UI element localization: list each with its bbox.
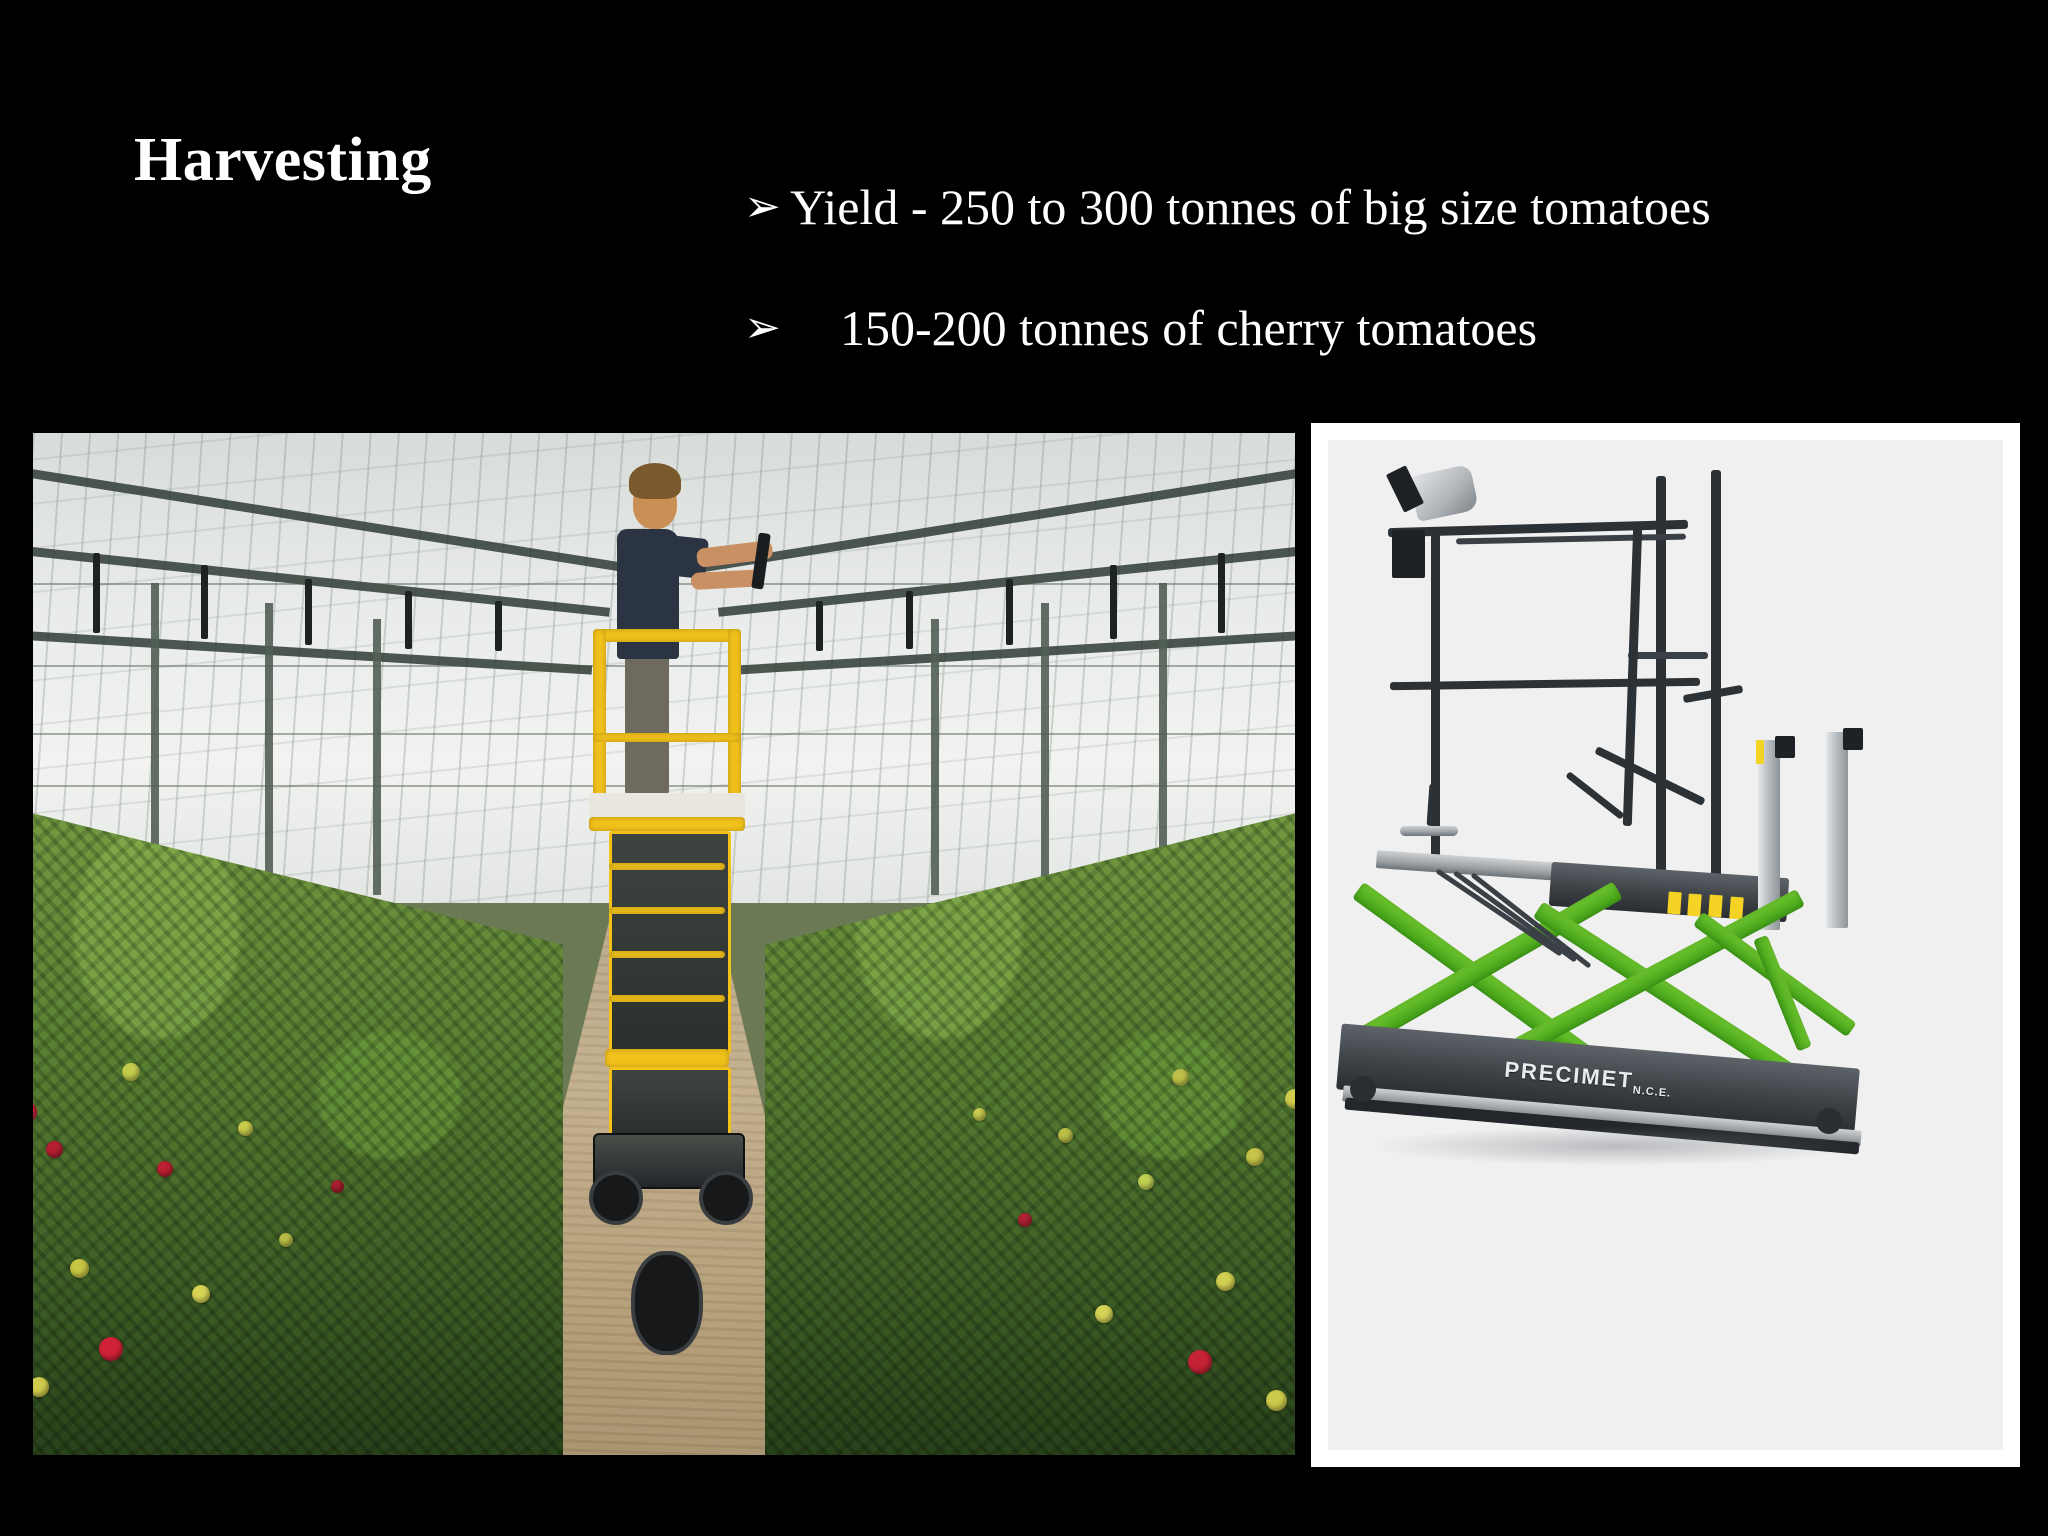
trolley-drive-wheel xyxy=(631,1251,703,1355)
trolley-rail-left xyxy=(593,629,606,805)
trolley-deck xyxy=(589,793,745,817)
greenhouse-post xyxy=(1041,603,1049,903)
base-roller xyxy=(1350,1076,1376,1102)
upright-marker xyxy=(1756,740,1764,764)
trolley-rail-top xyxy=(593,629,741,642)
roof-hanger xyxy=(1110,565,1117,639)
harvesting-trolley xyxy=(579,433,749,1455)
worker-hair xyxy=(629,463,681,499)
roof-hanger xyxy=(405,591,412,649)
trolley-lower-band xyxy=(605,1049,729,1067)
bullet-list: ➢ Yield - 250 to 300 tonnes of big size … xyxy=(744,178,1974,358)
tomato-fruit xyxy=(1216,1272,1235,1291)
tomato-fruit xyxy=(157,1161,173,1177)
upright-cap xyxy=(1843,728,1863,750)
trolley-deck-edge xyxy=(589,817,745,831)
mast-rung xyxy=(609,863,725,870)
mast-rung xyxy=(609,907,725,914)
tomato-fruit xyxy=(973,1108,986,1121)
arrow-bullet-icon: ➢ xyxy=(744,299,790,356)
tomato-fruit xyxy=(70,1259,89,1278)
tomato-fruit xyxy=(1058,1128,1073,1143)
trolley-rail-right xyxy=(728,629,741,805)
greenhouse-post xyxy=(931,619,939,895)
mast-rung xyxy=(609,951,725,958)
roof-hanger xyxy=(305,579,312,645)
drop-shadow xyxy=(1368,1126,1868,1166)
frame-crossbar-top2 xyxy=(1456,534,1686,545)
roof-hanger xyxy=(816,601,823,651)
tomato-fruit xyxy=(1246,1148,1264,1166)
tomato-fruit xyxy=(1266,1390,1287,1411)
roof-hanger xyxy=(201,565,208,639)
roof-hanger xyxy=(906,591,913,649)
roof-hanger xyxy=(1218,553,1225,633)
bullet-text-yield: Yield - 250 to 300 tonnes of big size to… xyxy=(790,178,1711,237)
greenhouse-scene xyxy=(33,433,1295,1455)
mast-rung xyxy=(609,995,725,1002)
upright-cap xyxy=(1775,736,1795,758)
deck-marker xyxy=(1667,892,1682,915)
tomato-fruit xyxy=(1138,1174,1154,1190)
arrow-bullet-icon: ➢ xyxy=(744,178,790,235)
deck-marker xyxy=(1687,894,1702,917)
precimet-machine: PRECIMETN.C.E. xyxy=(1328,440,2003,1450)
roof-hanger xyxy=(495,601,502,651)
worker-legs xyxy=(625,645,669,795)
tomato-fruit xyxy=(122,1063,140,1081)
frame-crossbar-short xyxy=(1628,652,1708,659)
trolley-wheel xyxy=(589,1171,643,1225)
guide-foot xyxy=(1400,826,1458,836)
trolley-base-box xyxy=(609,1067,731,1139)
frame-post-right xyxy=(1711,470,1721,880)
deck-marker xyxy=(1729,897,1744,920)
greenhouse-post xyxy=(265,603,273,903)
bullet-text-cherry: 150-200 tonnes of cherry tomatoes xyxy=(790,299,1537,358)
list-item: ➢ 150-200 tonnes of cherry tomatoes xyxy=(744,299,1974,358)
base-roller xyxy=(1816,1108,1842,1134)
tomato-fruit xyxy=(99,1337,123,1361)
precimet-photo-frame: PRECIMETN.C.E. xyxy=(1311,423,2020,1467)
list-item: ➢ Yield - 250 to 300 tonnes of big size … xyxy=(744,178,1974,237)
roof-hanger xyxy=(93,553,100,633)
handrail-diagonal xyxy=(1565,771,1624,820)
roof-hanger xyxy=(1006,579,1013,645)
handrail-inner xyxy=(1623,526,1642,826)
page-title: Harvesting xyxy=(134,128,432,193)
slide-canvas: Harvesting ➢ Yield - 250 to 300 tonnes o… xyxy=(0,0,2048,1536)
tomato-fruit xyxy=(33,1377,49,1397)
tomato-fruit xyxy=(192,1285,210,1303)
tomato-fruit xyxy=(279,1233,293,1247)
greenhouse-post xyxy=(373,619,381,895)
deck-marker xyxy=(1708,895,1723,918)
trolley-wheel xyxy=(699,1171,753,1225)
trolley-rail-mid xyxy=(593,733,741,742)
greenhouse-photo xyxy=(33,433,1295,1455)
control-box xyxy=(1392,530,1425,578)
tomato-fruit xyxy=(1172,1069,1189,1086)
handrail-diagonal xyxy=(1594,746,1705,806)
precimet-photo: PRECIMETN.C.E. xyxy=(1328,440,2003,1450)
side-upright xyxy=(1826,732,1848,928)
tomato-fruit xyxy=(1095,1305,1113,1323)
tomato-fruit xyxy=(1018,1213,1032,1227)
